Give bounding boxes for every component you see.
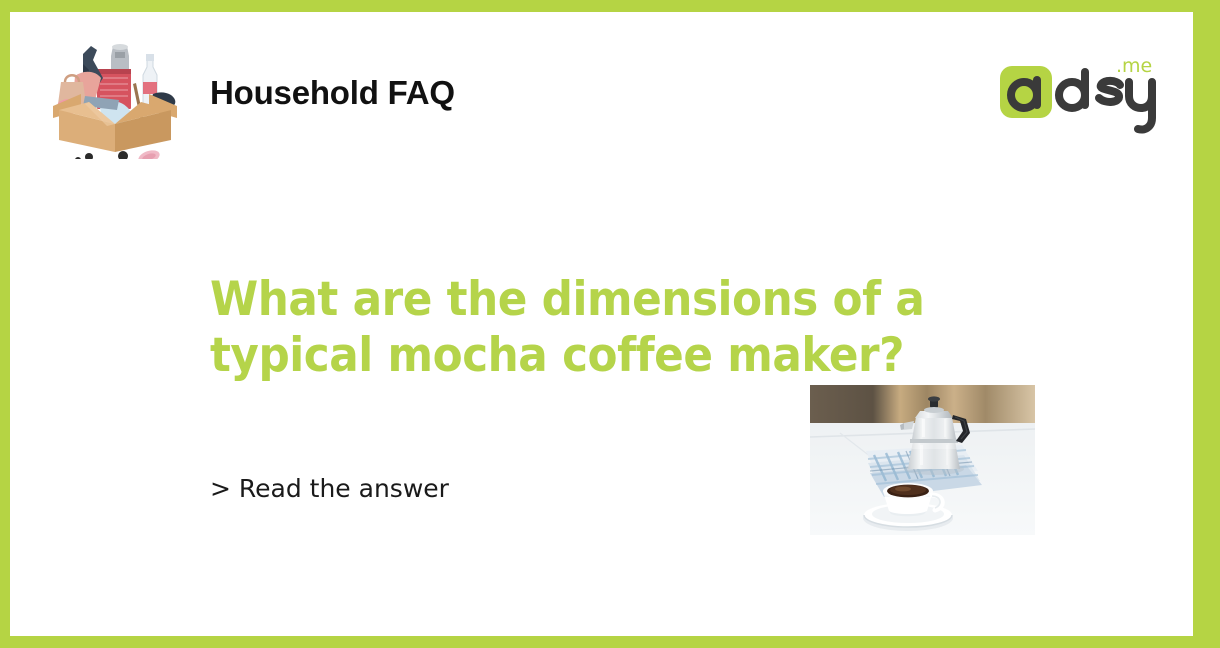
content-card: Household FAQ .me [10, 12, 1193, 636]
page-header: Household FAQ .me [10, 12, 1193, 172]
read-the-answer-link[interactable]: > Read the answer [210, 474, 449, 503]
question-headline: What are the dimensions of a typical moc… [210, 272, 991, 384]
page-title: Household FAQ [210, 74, 455, 112]
coffee-maker-photo [810, 385, 1035, 535]
adsy-logo[interactable]: .me [998, 54, 1163, 142]
household-box-icon [45, 24, 185, 159]
logo-tld-text: .me [1116, 55, 1152, 77]
